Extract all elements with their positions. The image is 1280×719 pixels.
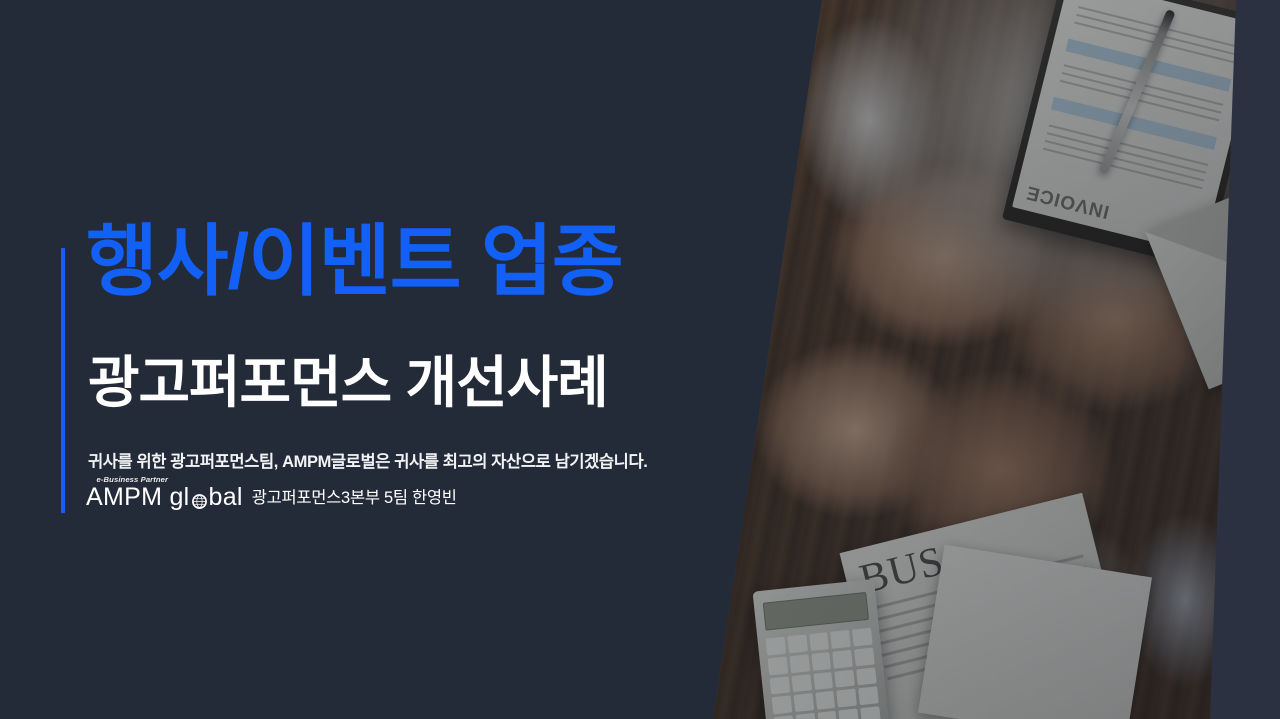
tagline-text: 귀사를 위한 광고퍼포먼스팀, AMPM글로벌은 귀사를 최고의 자산으로 남기…: [88, 448, 647, 472]
page-title-secondary: 광고퍼포먼스 개선사례: [88, 355, 608, 411]
title-slide: INVOICE BUS: [0, 0, 1280, 719]
brand-line: e-Business Partner AMPM gl: [86, 476, 457, 510]
title-panel: 행사/이벤트 업종 광고퍼포먼스 개선사례 귀사를 위한 광고퍼포먼스팀, AM…: [0, 0, 760, 719]
logo-word-before: AMPM gl: [86, 485, 190, 510]
presenter-byline: 광고퍼포먼스3본부 5팀 한영빈: [252, 484, 457, 510]
accent-bar: [61, 248, 65, 513]
paper-sheet-object: [918, 545, 1152, 719]
calculator-keys: [765, 628, 880, 719]
ampm-global-logo: e-Business Partner AMPM gl: [86, 476, 243, 510]
page-title-primary: 행사/이벤트 업종: [86, 222, 623, 300]
invoice-label: INVOICE: [1024, 180, 1112, 222]
calculator-screen: [763, 592, 869, 631]
logo-eyebrow: e-Business Partner: [97, 476, 245, 484]
globe-icon: [191, 490, 208, 507]
logo-word-after: bal: [209, 485, 243, 510]
calculator-object: [752, 579, 889, 719]
logo-wordmark: AMPM gl bal: [86, 485, 243, 510]
